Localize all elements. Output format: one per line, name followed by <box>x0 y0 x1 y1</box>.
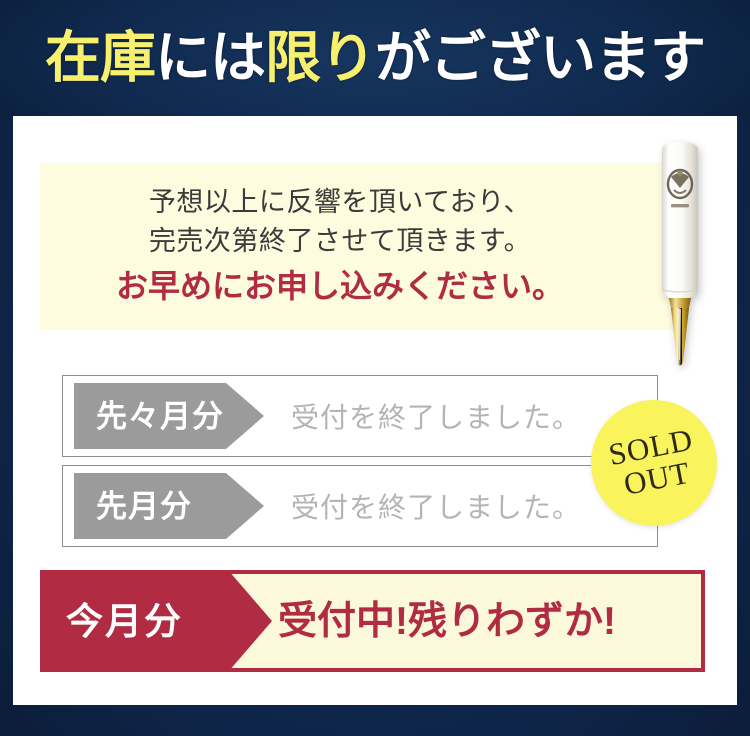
row-tag-current-month: 今月分 <box>40 570 272 672</box>
promo-banner: 在庫には限りがございます 予想以上に反響を頂いており、 完売次第終了させて頂きま… <box>0 0 750 736</box>
row-tag-previous-month: 先月分 <box>74 473 264 539</box>
row-status-message: 受付を終了しました。 <box>291 376 581 456</box>
row-tag-previous-previous-month: 先々月分 <box>74 383 264 449</box>
row-status-message: 受付を終了しました。 <box>291 466 581 546</box>
banner-header: 在庫には限りがございます <box>0 0 750 116</box>
product-tube-image <box>656 140 704 371</box>
status-row-closed-2: 先月分 受付を終了しました。 <box>62 465 658 547</box>
headline-segment-1: 在庫 <box>45 26 155 89</box>
status-row-active[interactable]: 今月分 受付中!残りわずか! <box>40 570 705 672</box>
notice-box: 予想以上に反響を頂いており、 完売次第終了させて頂きます。 お早めにお申し込みく… <box>40 163 681 330</box>
row-tag-label: 今月分 <box>66 603 183 640</box>
notice-line-3-accent: お早めにお申し込みください。 <box>116 265 564 309</box>
notice-line-1: 予想以上に反響を頂いており、 <box>149 184 531 221</box>
notice-text-block: 予想以上に反響を頂いており、 完売次第終了させて頂きます。 お早めにお申し込みく… <box>40 163 640 330</box>
active-row-message: 受付中!残りわずか! <box>278 574 616 668</box>
content-panel: 予想以上に反響を頂いており、 完売次第終了させて頂きます。 お早めにお申し込みく… <box>13 116 737 705</box>
headline-segment-3: 限り <box>265 26 375 89</box>
headline-segment-2: には <box>155 26 265 89</box>
status-row-closed-1: 先々月分 受付を終了しました。 <box>62 375 658 457</box>
headline-segment-4: がございます <box>375 26 705 89</box>
row-tag-label: 先月分 <box>96 491 192 522</box>
headline: 在庫には限りがございます <box>45 30 705 86</box>
notice-line-2: 完売次第終了させて頂きます。 <box>149 223 531 260</box>
row-tag-label: 先々月分 <box>96 401 224 432</box>
